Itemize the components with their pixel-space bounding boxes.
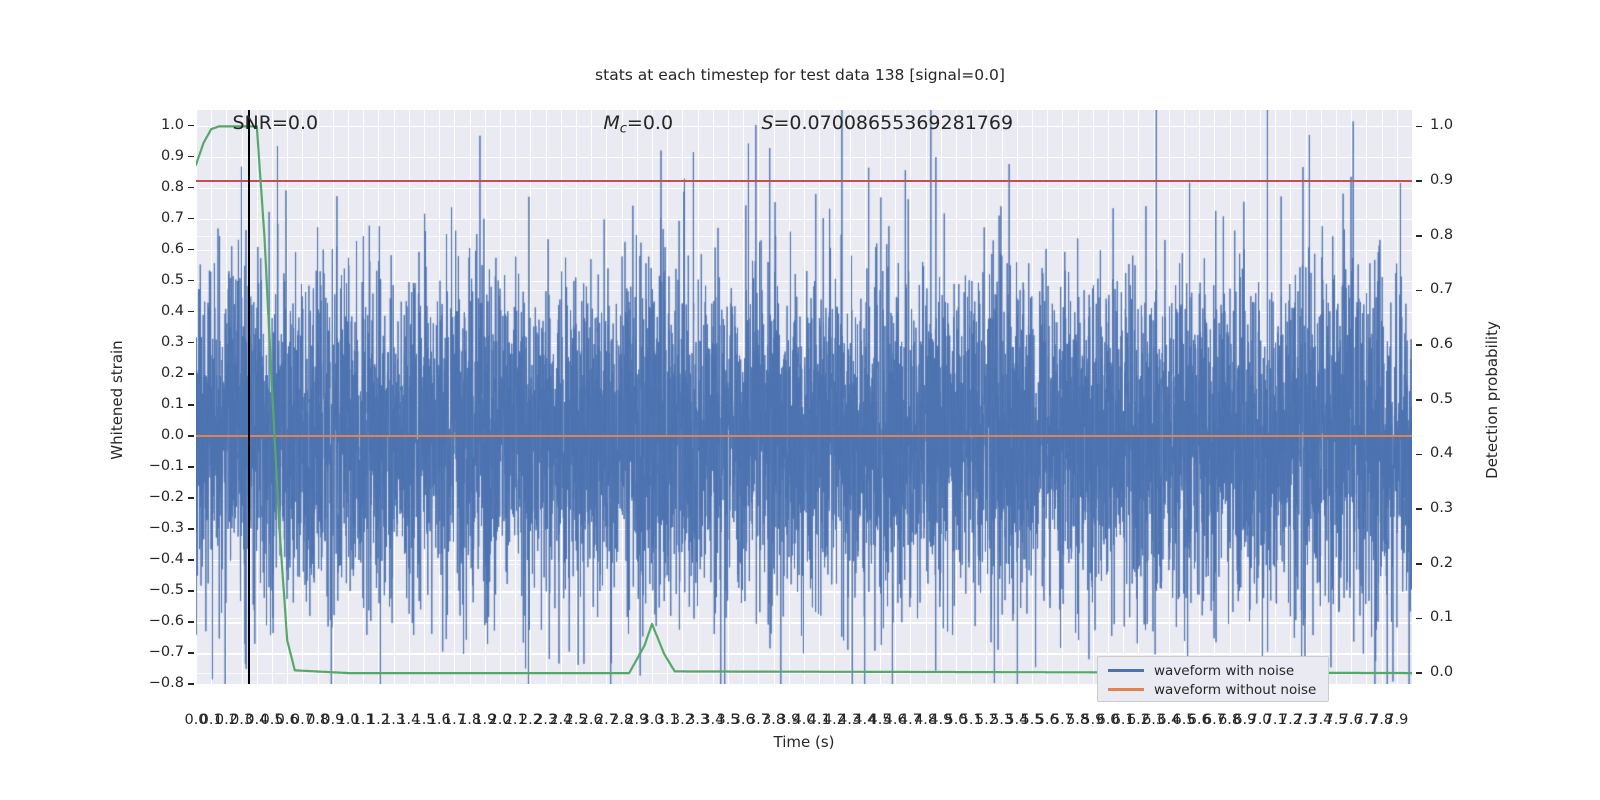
y-tick-mark-left [188, 187, 194, 189]
y-tick-label-left: 0.1 [134, 396, 184, 412]
y-tick-label-left: 0.3 [134, 334, 184, 350]
legend-item: waveform with noise [1104, 661, 1322, 680]
y-tick-label-left: 0.9 [134, 148, 184, 164]
y-tick-mark-left [188, 280, 194, 282]
y-tick-mark-right [1416, 618, 1422, 620]
y-tick-mark-right [1416, 180, 1422, 182]
annotation-chirp-mass: Mc=0.0 [603, 112, 673, 137]
y-tick-label-right: 1.0 [1430, 117, 1453, 133]
y-tick-label-left: −0.6 [134, 613, 184, 629]
y-tick-label-left: 0.0 [134, 427, 184, 443]
y-tick-label-right: 0.4 [1430, 445, 1453, 461]
y-tick-label-right: 0.5 [1430, 391, 1453, 407]
y-tick-label-left: −0.3 [134, 520, 184, 536]
y-tick-label-right: 0.7 [1430, 281, 1453, 297]
y-axis-label-right: Detection probability [1483, 250, 1501, 550]
y-tick-mark-left [188, 683, 194, 685]
y-tick-label-left: 0.2 [134, 365, 184, 381]
y-tick-mark-right [1416, 344, 1422, 346]
y-tick-mark-left [188, 559, 194, 561]
annotation-symbol-s: S [761, 112, 773, 134]
y-tick-mark-left [188, 590, 194, 592]
y-tick-mark-right [1416, 399, 1422, 401]
y-tick-label-right: 0.8 [1430, 227, 1453, 243]
y-tick-label-left: 0.5 [134, 272, 184, 288]
y-tick-label-left: −0.2 [134, 489, 184, 505]
y-tick-label-right: 0.1 [1430, 609, 1453, 625]
y-tick-mark-left [188, 528, 194, 530]
y-tick-mark-right [1416, 126, 1422, 128]
plot-area: SNR=0.0 Mc=0.0 S=0.07008655369281769 [196, 110, 1412, 684]
legend-item: waveform without noise [1104, 680, 1322, 699]
y-tick-mark-left [188, 435, 194, 437]
figure: stats at each timestep for test data 138… [0, 0, 1600, 800]
y-tick-mark-right [1416, 454, 1422, 456]
y-tick-mark-left [188, 125, 194, 127]
legend-swatch [1108, 688, 1144, 690]
y-tick-label-right: 0.3 [1430, 500, 1453, 516]
annotation-symbol-m: Mc [603, 112, 627, 134]
y-tick-mark-left [188, 249, 194, 251]
y-tick-mark-left [188, 466, 194, 468]
y-tick-label-right: 0.0 [1430, 664, 1453, 680]
annotation-value-mc: =0.0 [627, 112, 673, 134]
y-tick-mark-right [1416, 563, 1422, 565]
y-tick-mark-left [188, 652, 194, 654]
y-axis-label-left: Whitened strain [108, 250, 126, 550]
y-tick-mark-left [188, 621, 194, 623]
legend-swatch [1108, 669, 1144, 671]
legend-label: waveform without noise [1154, 682, 1316, 698]
y-tick-label-right: 0.2 [1430, 555, 1453, 571]
x-tick-label: 7.9 [1377, 712, 1417, 728]
y-tick-label-left: −0.7 [134, 644, 184, 660]
legend: waveform with noisewaveform without nois… [1097, 656, 1329, 702]
y-tick-label-left: 0.7 [134, 210, 184, 226]
y-tick-mark-right [1416, 672, 1422, 674]
y-tick-label-left: 0.6 [134, 241, 184, 257]
event-marker-line [248, 110, 250, 684]
y-tick-label-right: 0.9 [1430, 172, 1453, 188]
annotation-statistic: S=0.07008655369281769 [761, 112, 1013, 134]
y-tick-mark-right [1416, 508, 1422, 510]
y-tick-mark-left [188, 218, 194, 220]
annotation-snr: SNR=0.0 [232, 112, 318, 134]
detection-probability-series [196, 110, 1412, 684]
y-tick-mark-right [1416, 290, 1422, 292]
y-tick-label-left: −0.5 [134, 582, 184, 598]
y-tick-label-left: 1.0 [134, 117, 184, 133]
y-tick-label-left: −0.4 [134, 551, 184, 567]
chart-title: stats at each timestep for test data 138… [0, 66, 1600, 84]
y-tick-mark-left [188, 497, 194, 499]
y-tick-mark-right [1416, 235, 1422, 237]
y-tick-mark-left [188, 342, 194, 344]
y-tick-mark-left [188, 404, 194, 406]
y-tick-label-left: 0.4 [134, 303, 184, 319]
y-tick-label-left: 0.8 [134, 179, 184, 195]
y-tick-mark-left [188, 156, 194, 158]
y-tick-label-left: −0.1 [134, 458, 184, 474]
y-tick-label-right: 0.6 [1430, 336, 1453, 352]
annotation-value-s: =0.07008655369281769 [774, 112, 1014, 134]
x-axis-label: Time (s) [196, 733, 1412, 751]
y-tick-mark-left [188, 311, 194, 313]
legend-label: waveform with noise [1154, 663, 1294, 679]
y-tick-label-left: −0.8 [134, 675, 184, 691]
y-tick-mark-left [188, 373, 194, 375]
